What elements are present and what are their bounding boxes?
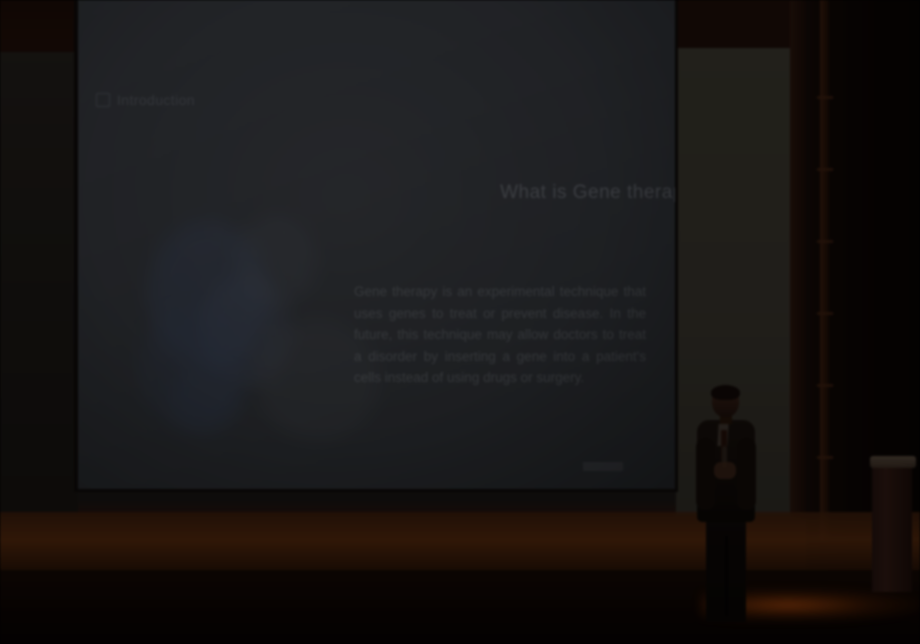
- presenter-right-arm: [737, 438, 756, 510]
- slide-title: What is Gene theraphy?: [386, 182, 675, 204]
- presenter-hands: [714, 462, 736, 479]
- rail-rung: [817, 240, 833, 243]
- rail-rung: [817, 384, 833, 387]
- slide-header: Introduction: [96, 92, 195, 108]
- wall-left-of-screen: [0, 52, 78, 514]
- wall-panel-right-frame: [676, 0, 806, 52]
- slide-footer-mark: [583, 462, 623, 471]
- rail-rung: [817, 312, 833, 315]
- projection-screen: Introduction What is Gene theraphy? Gene…: [78, 0, 675, 489]
- rail-rung: [817, 456, 833, 459]
- podium-top-surface: [870, 456, 916, 468]
- slide-header-label: Introduction: [117, 92, 195, 108]
- rail-rung: [817, 96, 833, 99]
- wall-left-upper-band: [0, 0, 78, 53]
- slide-body-text: Gene therapy is an experimental techniqu…: [354, 281, 646, 389]
- presenter-leg-split: [725, 536, 728, 616]
- presenter-left-arm: [696, 438, 715, 510]
- rail-rung: [817, 168, 833, 171]
- square-bullet-icon: [96, 93, 110, 107]
- presenter-hair: [711, 385, 740, 400]
- podium: [872, 462, 912, 592]
- presenter: [684, 386, 768, 622]
- wall-ladder-rail: [820, 0, 829, 540]
- art-blob: [170, 366, 240, 436]
- art-blob: [236, 216, 316, 306]
- slide-dna-cell-illustration: [108, 180, 368, 450]
- auditorium-presentation-scene: Introduction What is Gene theraphy? Gene…: [0, 0, 920, 644]
- warm-wall-band: [0, 512, 920, 574]
